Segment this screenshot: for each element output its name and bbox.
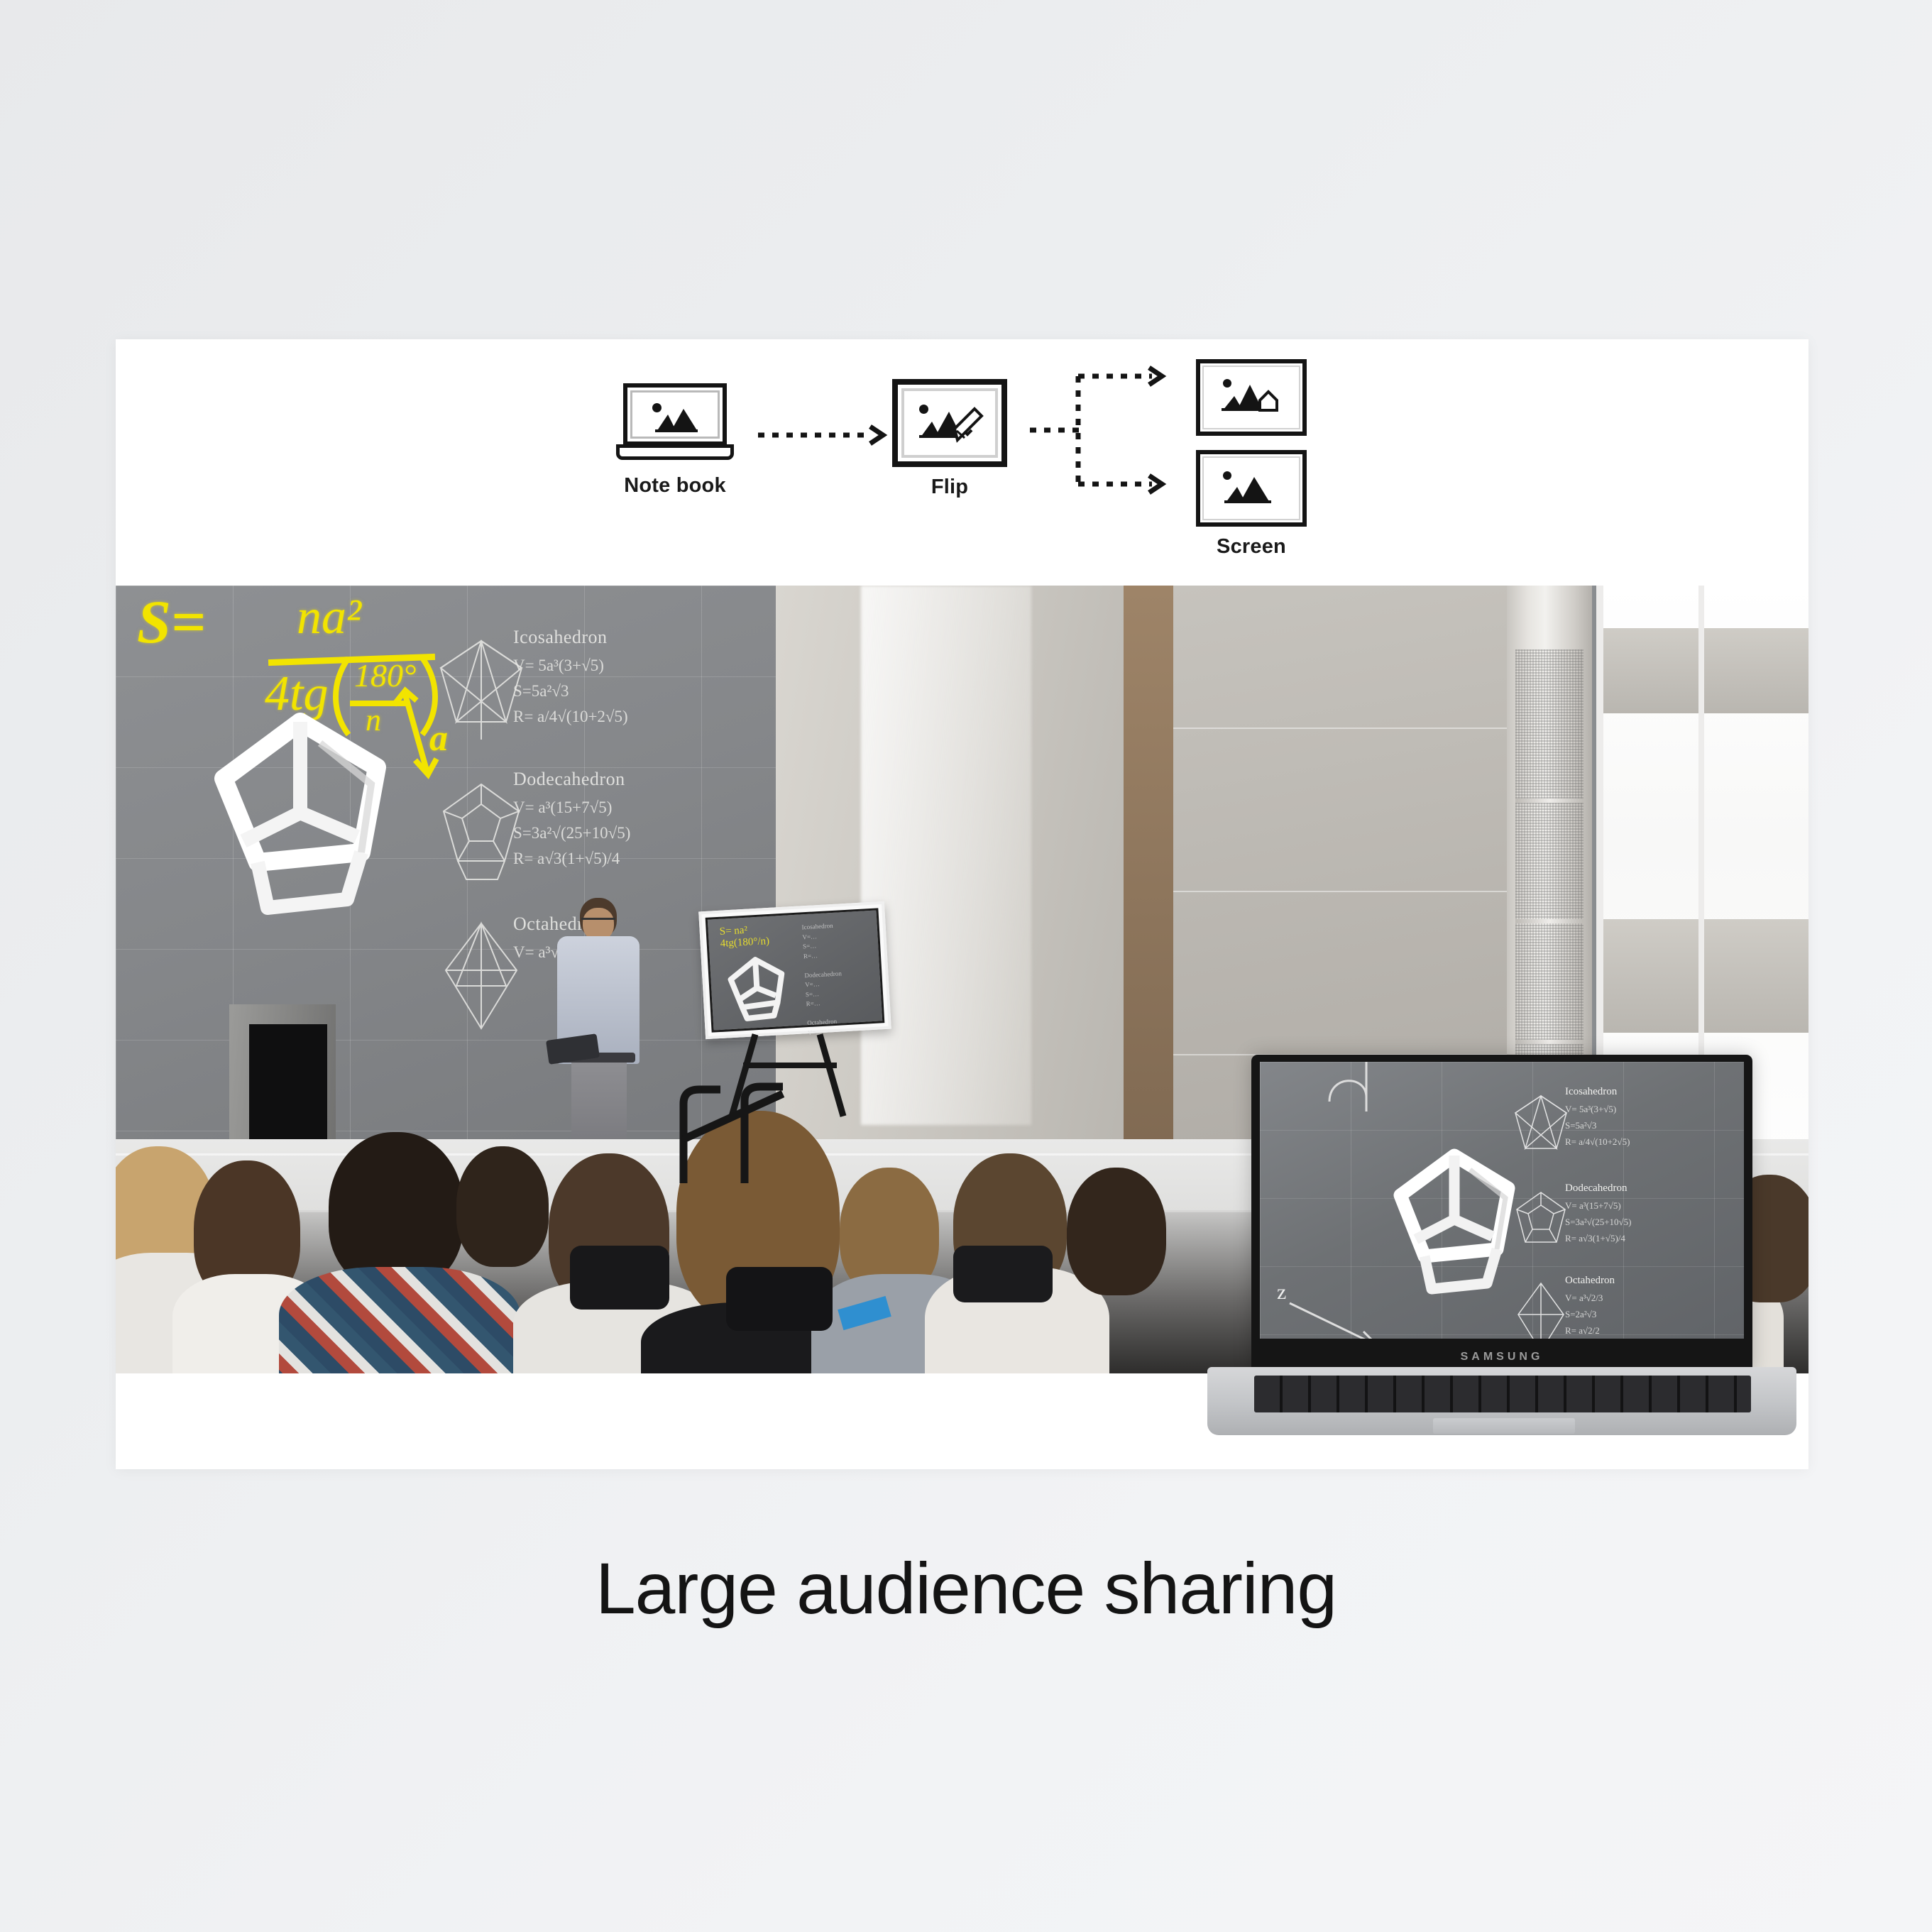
page-root: Note book — [0, 0, 1932, 1932]
flip-display: S= na²4tg(180°/n) IcosahedronV=…S=…R=…Do… — [698, 901, 891, 1039]
dodecahedron-model — [194, 706, 407, 930]
connector-flip-to-screens — [1030, 359, 1192, 501]
laptop-icon — [616, 383, 734, 461]
laptop-screen-formula-1: Icosahedron V= 5a³(3+√5) S=5a²√3 R= a/4√… — [1565, 1086, 1630, 1148]
laptop-brand-logo: SAMSUNG — [1251, 1351, 1752, 1363]
flow-node-flip[interactable]: Flip — [892, 379, 1007, 500]
flow-node-screen[interactable]: Screen — [1196, 359, 1307, 551]
picture-glyph-2 — [1220, 467, 1285, 510]
chalk-section-dodecahedron: Dodecahedron V= a³(15+7√5) S=3a²√(25+10√… — [513, 769, 630, 868]
flow-node-screen-label: Screen — [1196, 535, 1307, 559]
laptop-screen: z — [1260, 1062, 1744, 1339]
picture-pen-glyph — [916, 400, 987, 443]
flow-node-notebook-label: Note book — [616, 474, 734, 498]
laptop-screen-formula-3: Octahedron V= a³√2/3 S=2a²√3 R= a√2/2 — [1565, 1275, 1615, 1337]
flow-node-flip-label: Flip — [892, 476, 1007, 499]
svg-text:z: z — [1277, 1280, 1286, 1304]
laptop-keyboard[interactable] — [1254, 1376, 1751, 1412]
laptop-lid: z — [1251, 1055, 1752, 1373]
connector-notebook-to-flip — [758, 424, 893, 446]
flow-node-notebook[interactable]: Note book — [616, 383, 734, 497]
wood-panel — [1124, 586, 1180, 1210]
chalk-section-icosahedron: Icosahedron V= 5a³(3+√5) S=5a²√3 R= a/4√… — [513, 627, 628, 726]
picture-glyph — [649, 400, 701, 433]
flow-diagram: Note book — [116, 339, 1808, 586]
page-caption: Large audience sharing — [0, 1547, 1932, 1630]
laptop-trackpad[interactable] — [1433, 1418, 1575, 1434]
content-card: Note book — [116, 339, 1808, 1469]
hall-light-curtain — [861, 586, 1031, 1125]
picture-house-glyph — [1220, 376, 1285, 419]
samsung-laptop-product: z — [1207, 1055, 1796, 1452]
laptop-screen-formula-2: Dodecahedron V= a³(15+7√5) S=3a²√(25+10√… — [1565, 1182, 1632, 1244]
